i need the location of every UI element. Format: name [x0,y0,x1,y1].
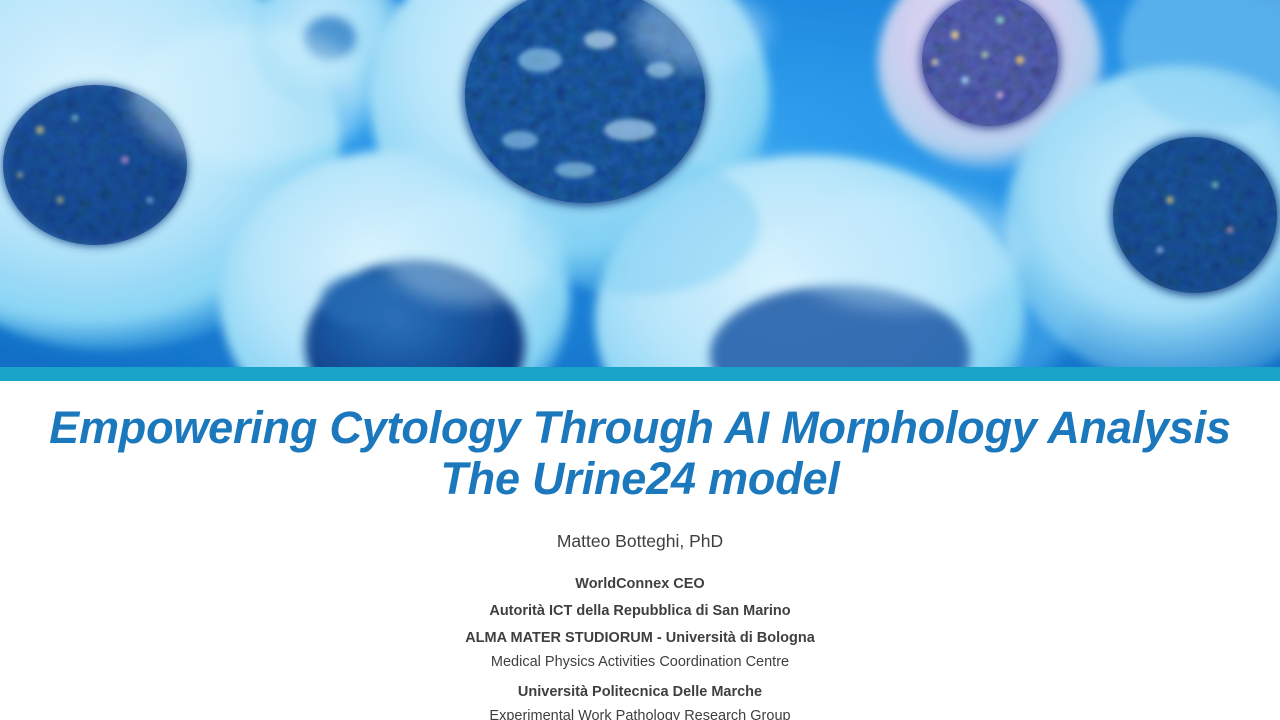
title-slide: Empowering Cytology Through AI Morpholog… [0,0,1280,720]
affiliation-item-4: Università Politecnica Delle Marche Expe… [0,679,1280,720]
presenter-block: Matteo Botteghi, PhD WorldConnex CEO Aut… [0,530,1280,720]
affiliation-item-2: Autorità ICT della Repubblica di San Mar… [0,598,1280,625]
affiliation-department: Experimental Work Pathology Research Gro… [0,706,1280,720]
title-line-2: The Urine24 model [0,453,1280,504]
presenter-name: Matteo Botteghi, PhD [0,530,1280,552]
affiliation-organization: ALMA MATER STUDIORUM - Università di Bol… [0,625,1280,652]
slide-text-area: Empowering Cytology Through AI Morpholog… [0,381,1280,720]
affiliation-item-3: ALMA MATER STUDIORUM - Università di Bol… [0,625,1280,672]
title-line-1: Empowering Cytology Through AI Morpholog… [0,402,1280,453]
affiliation-department: Medical Physics Activities Coordination … [0,652,1280,672]
affiliation-organization: Autorità ICT della Repubblica di San Mar… [0,598,1280,625]
accent-divider-bar [0,367,1280,381]
cell-illustration [0,0,1280,368]
hero-microscopy-image [0,0,1280,368]
affiliation-item-1: WorldConnex CEO [0,571,1280,598]
slide-title: Empowering Cytology Through AI Morpholog… [0,402,1280,504]
affiliation-organization: WorldConnex CEO [0,571,1280,598]
affiliation-organization: Università Politecnica Delle Marche [0,679,1280,706]
